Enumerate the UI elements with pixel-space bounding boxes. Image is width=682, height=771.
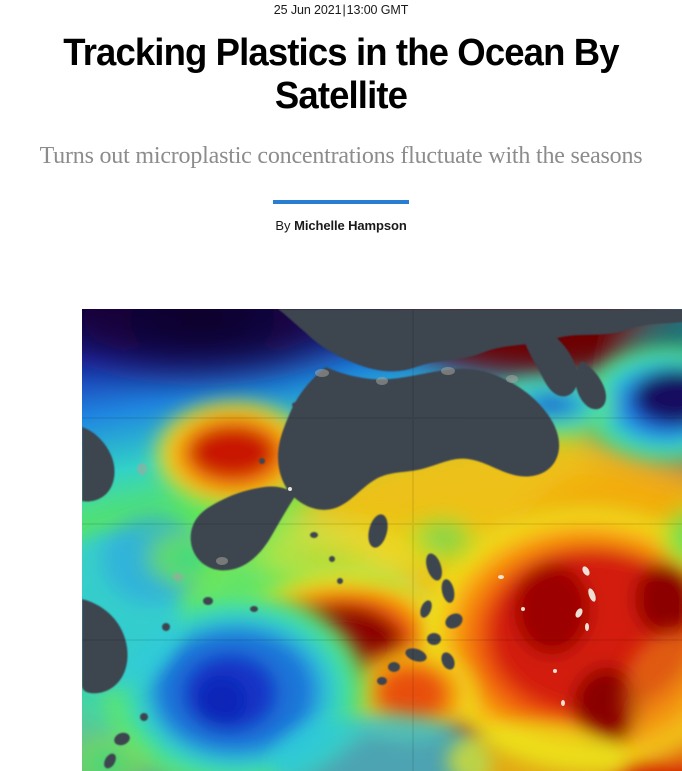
article-subheadline: Turns out microplastic concentrations fl…: [31, 140, 651, 172]
article-page: 25 Jun 2021|13:00 GMT Tracking Plastics …: [0, 0, 682, 771]
byline-divider: [273, 200, 409, 204]
byline-author[interactable]: Michelle Hampson: [294, 218, 407, 233]
microplastic-concentration-heatmap: [82, 309, 682, 771]
article-dateline: 25 Jun 2021|13:00 GMT: [20, 0, 662, 19]
byline: By Michelle Hampson: [20, 218, 662, 234]
page-title: Tracking Plastics in the Ocean By Satell…: [53, 32, 629, 118]
figure-image: [82, 309, 682, 771]
article-header: 25 Jun 2021|13:00 GMT Tracking Plastics …: [0, 0, 682, 234]
byline-prefix: By: [275, 218, 290, 233]
dateline-time: 13:00 GMT: [347, 3, 409, 17]
article-figure: UNIVERSITY OF MICHIGAN ENGINEERING: [82, 309, 682, 771]
dateline-date: 25 Jun 2021: [274, 3, 342, 17]
